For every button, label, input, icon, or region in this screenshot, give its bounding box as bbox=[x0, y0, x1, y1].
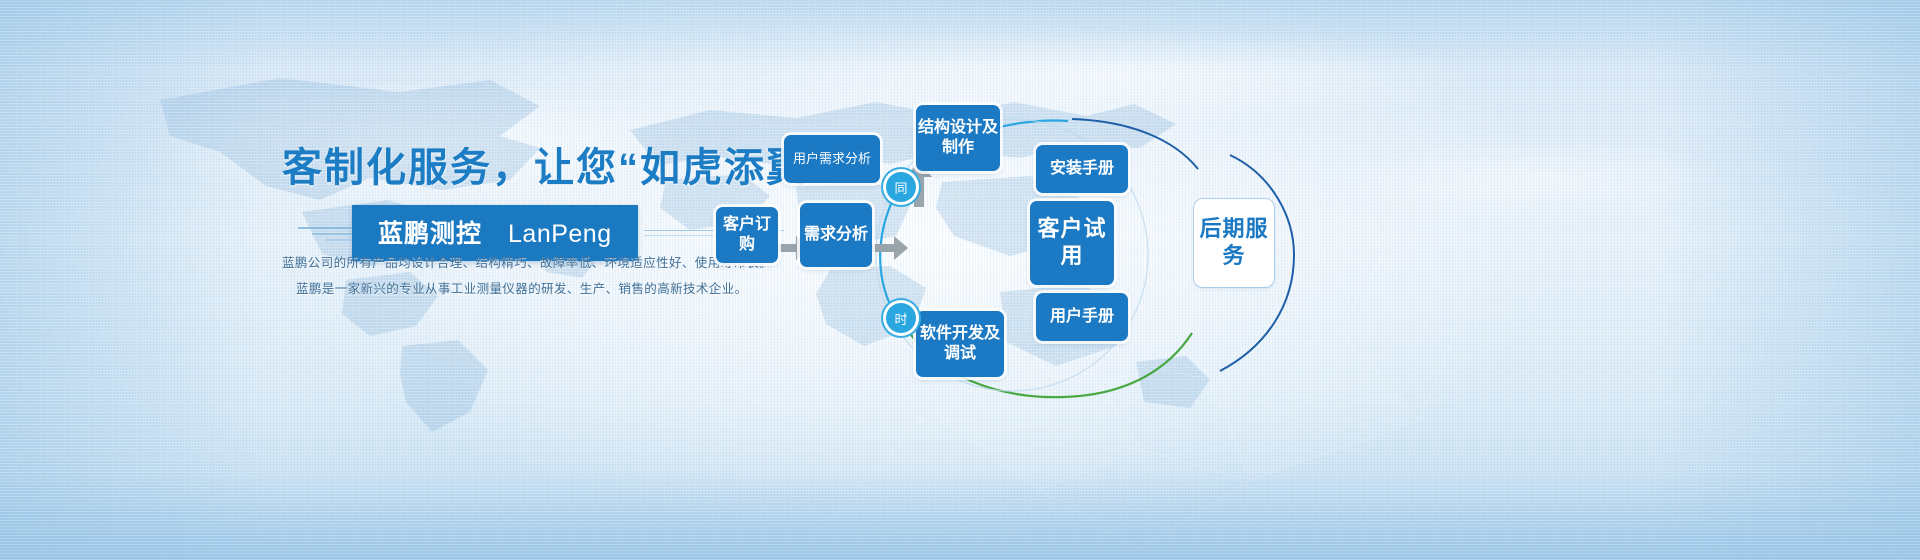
decorative-lines-left bbox=[300, 219, 360, 247]
node-customer-trial[interactable]: 客户试用 bbox=[1030, 201, 1114, 285]
node-install-manual[interactable]: 安装手册 bbox=[1036, 145, 1128, 193]
badge-time: 时 bbox=[886, 303, 916, 333]
node-after-service[interactable]: 后期服务 bbox=[1196, 201, 1272, 285]
node-user-requirement[interactable]: 用户需求分析 bbox=[784, 135, 880, 183]
description-line-2: 蓝鹏是一家新兴的专业从事工业测量仪器的研发、生产、销售的高新技术企业。 bbox=[282, 276, 702, 302]
description-line-1: 蓝鹏公司的所有产品均设计合理、结构精巧、故障率低、环境适应性好、使用寿命长。 bbox=[282, 250, 702, 276]
description-block: 蓝鹏公司的所有产品均设计合理、结构精巧、故障率低、环境适应性好、使用寿命长。 蓝… bbox=[282, 250, 702, 302]
banner-root: 客制化服务，让您“如虎添翼” 蓝鹏测控LanPeng 蓝鹏公司的所有产品均设计合… bbox=[0, 0, 1920, 560]
node-software-development[interactable]: 软件开发及调试 bbox=[916, 311, 1004, 377]
process-flow-diagram: 用户需求分析 客户订购 需求分析 结构设计及制作 软件开发及调试 安装手册 用户… bbox=[700, 95, 1900, 425]
node-customer-order[interactable]: 客户订购 bbox=[716, 207, 778, 263]
badge-same: 同 bbox=[886, 172, 916, 202]
arrow-analysis-to-cycle bbox=[872, 235, 908, 261]
brand-name-en: LanPeng bbox=[508, 220, 612, 248]
node-user-manual[interactable]: 用户手册 bbox=[1036, 293, 1128, 341]
brand-name-cn: 蓝鹏测控 bbox=[378, 220, 482, 248]
node-requirement-analysis[interactable]: 需求分析 bbox=[800, 203, 872, 267]
node-structure-design[interactable]: 结构设计及制作 bbox=[916, 105, 1000, 171]
